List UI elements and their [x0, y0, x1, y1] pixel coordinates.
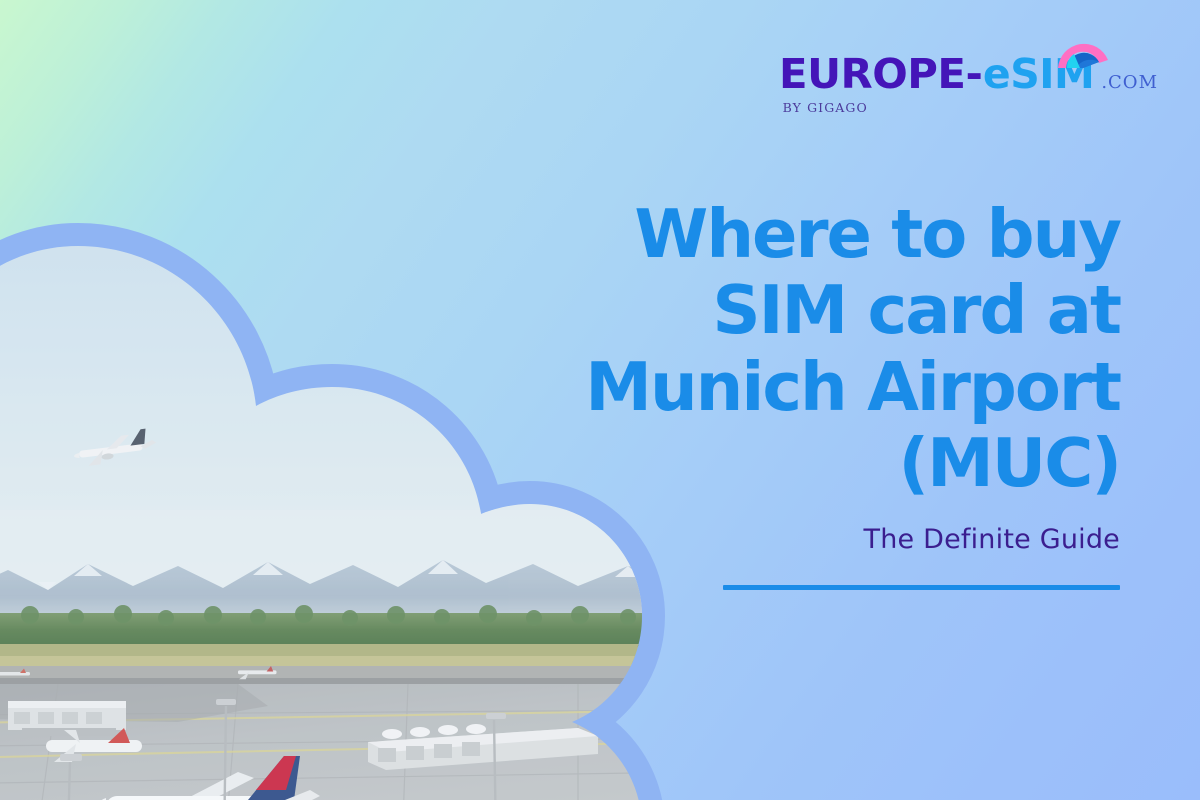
europe-esim-logo[interactable]: EUROPE- eSIM .COM BY GIGAGO	[783, 54, 1158, 115]
signal-fan-icon	[1054, 32, 1112, 70]
page-subtitle: The Definite Guide	[580, 524, 1120, 555]
promo-banner: EUROPE- eSIM .COM BY GIGAGO Where to buy…	[0, 0, 1200, 800]
page-title: Where to buy SIM card at Munich Airport …	[580, 196, 1120, 502]
headline-block: Where to buy SIM card at Munich Airport …	[580, 196, 1120, 590]
logo-com-text: .COM	[1101, 74, 1158, 95]
logo-europe-text: EUROPE-	[779, 54, 982, 95]
accent-rule	[723, 585, 1120, 590]
logo-byline: BY GIGAGO	[783, 102, 990, 115]
logo-wordmark: EUROPE- eSIM .COM	[783, 54, 1158, 95]
